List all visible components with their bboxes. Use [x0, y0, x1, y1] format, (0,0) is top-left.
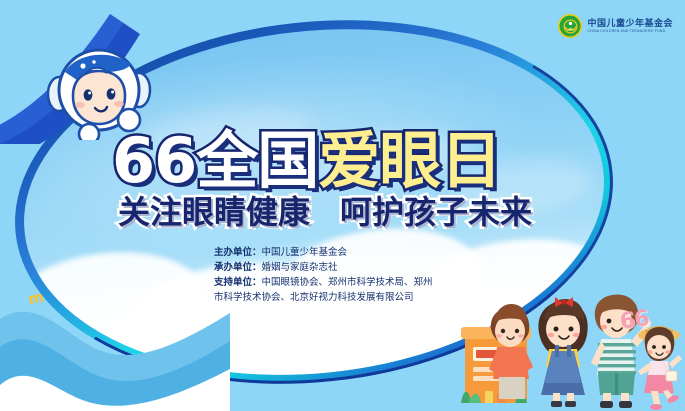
- organization-logo: 中国儿童少年基金会 CHINA CHILDREN AND TEENAGERS' …: [558, 13, 673, 39]
- balloon-66-text: 66: [619, 306, 651, 335]
- headline: 66全国 爱眼日: [112, 126, 582, 196]
- wave-decoration: [0, 261, 230, 411]
- subtitle-right: 呵护孩子未来: [340, 196, 532, 228]
- logo-name-en: CHINA CHILDREN AND TEENAGERS' FUND: [587, 29, 673, 34]
- subtitle: 关注眼睛健康 呵护孩子未来: [118, 196, 588, 228]
- headline-part-white: 66全国: [112, 130, 318, 192]
- credit-label: 主办单位：: [214, 247, 262, 258]
- credit-value: 中国儿童少年基金会: [262, 247, 348, 258]
- poster-canvas: 66全国 爱眼日 关注眼睛健康 呵护孩子未来 主办单位：中国儿童少年基金会 承办…: [0, 0, 685, 411]
- subtitle-left: 关注眼睛健康: [118, 196, 310, 228]
- logo-text: 中国儿童少年基金会 CHINA CHILDREN AND TEENAGERS' …: [587, 19, 673, 34]
- child-in-hands-icon: [558, 14, 582, 38]
- credit-value: 婚姻与家庭杂志社: [262, 262, 338, 273]
- headline-part-yellow: 爱眼日: [318, 130, 501, 192]
- credit-line: 主办单位：中国儿童少年基金会: [214, 245, 514, 260]
- logo-name-cn: 中国儿童少年基金会: [587, 19, 673, 29]
- credit-value: 中国眼镜协会、郑州市科学技术局、郑州: [262, 277, 433, 288]
- children-group-illustration: [455, 271, 685, 411]
- credit-value: 市科学技术协会、北京好视力科技发展有限公司: [214, 292, 414, 303]
